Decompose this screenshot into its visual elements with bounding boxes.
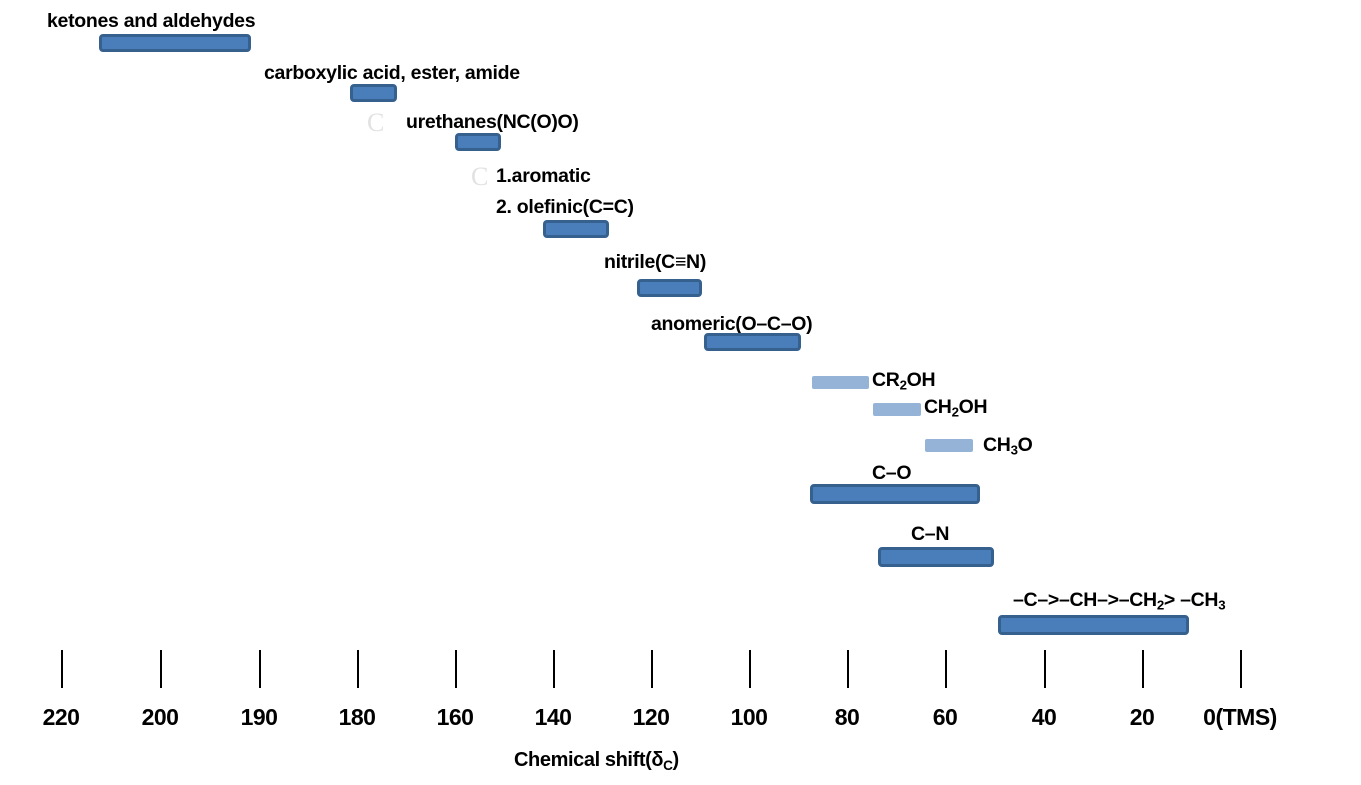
axis-tick-label: 80 [835,706,860,729]
ch3o-suffix: O [1018,434,1033,456]
ch2oh-suffix: OH [959,396,988,418]
ch3o-prefix: CH [983,434,1011,456]
band-bar-carboxylic-acid-ester-amide [350,84,397,102]
band-label-c-o: C–O [872,464,911,484]
band-label-carboxylic-acid-ester-amide: carboxylic acid, ester, amide [264,64,520,84]
band-bar-alkyl-chain [998,615,1189,635]
axis-tick [357,650,359,688]
axis-tick-label: 160 [437,706,474,729]
band-bar-ch3o [925,439,973,452]
axis-tick [749,650,751,688]
band-bar-nitrile [637,279,702,297]
alkyl-subscript-2: 3 [1218,598,1225,613]
axis-tick-label: 0(TMS) [1203,706,1277,729]
band-label-cr2oh: CR2OH [872,371,935,392]
axis-tick [1240,650,1242,688]
cr2oh-subscript: 2 [900,378,907,393]
axis-tick-label: 120 [633,706,670,729]
axis-tick [455,650,457,688]
axis-tick [259,650,261,688]
axis-title-suffix: ) [673,749,679,771]
axis-tick-label: 20 [1130,706,1155,729]
axis-tick [553,650,555,688]
axis-tick [61,650,63,688]
axis-title-subscript: C [663,758,672,773]
watermark-c-icon: C [367,110,384,136]
band-label-urethanes: urethanes(NC(O)O) [406,113,579,133]
axis-tick-label: 190 [241,706,278,729]
cr2oh-suffix: OH [907,369,936,391]
band-label-alkyl-chain: –C–>–CH–>–CH2> –CH3 [1013,591,1225,612]
axis-title-prefix: Chemical shift(δ [514,749,663,771]
band-label-olefinic: 2. olefinic(C=C) [496,198,634,218]
band-bar-cr2oh [812,376,869,389]
band-label-c-n: C–N [911,525,949,545]
band-label-anomeric: anomeric(O–C–O) [651,315,812,335]
alkyl-subscript-1: 2 [1157,598,1164,613]
band-bar-ch2oh [873,403,921,416]
axis-tick [1044,650,1046,688]
band-label-nitrile: nitrile(C≡N) [604,253,706,273]
band-bar-urethanes [455,133,501,151]
ch2oh-subscript: 2 [952,405,959,420]
band-bar-c-n [878,547,994,567]
axis-tick-label: 60 [933,706,958,729]
axis-tick [1142,650,1144,688]
axis-tick-label: 200 [142,706,179,729]
band-label-aromatic: 1.aromatic [496,167,591,187]
band-label-ch2oh: CH2OH [924,398,987,419]
ch3o-subscript: 3 [1011,443,1018,458]
axis-tick [847,650,849,688]
band-bar-ketones-and-aldehydes [99,34,251,52]
alkyl-part-1: –C–>–CH–>–CH [1013,589,1157,611]
nmr-chemical-shift-chart: C C ketones and aldehydes carboxylic aci… [0,0,1361,785]
axis-tick-label: 180 [339,706,376,729]
alkyl-part-2: > –CH [1164,589,1218,611]
axis-tick [651,650,653,688]
ch2oh-prefix: CH [924,396,952,418]
cr2oh-prefix: CR [872,369,900,391]
band-label-ch3o: CH3O [983,436,1033,457]
axis-tick [160,650,162,688]
band-bar-anomeric [704,333,801,351]
axis-tick-label: 100 [731,706,768,729]
axis-tick-label: 140 [535,706,572,729]
band-bar-c-o [810,484,980,504]
watermark-c-icon: C [471,164,488,190]
band-label-ketones-and-aldehydes: ketones and aldehydes [47,12,255,32]
band-bar-aromatic-olefinic [543,220,609,238]
x-axis-title: Chemical shift(δC) [514,750,679,772]
axis-tick-label: 220 [43,706,80,729]
axis-tick [945,650,947,688]
axis-tick-label: 40 [1032,706,1057,729]
